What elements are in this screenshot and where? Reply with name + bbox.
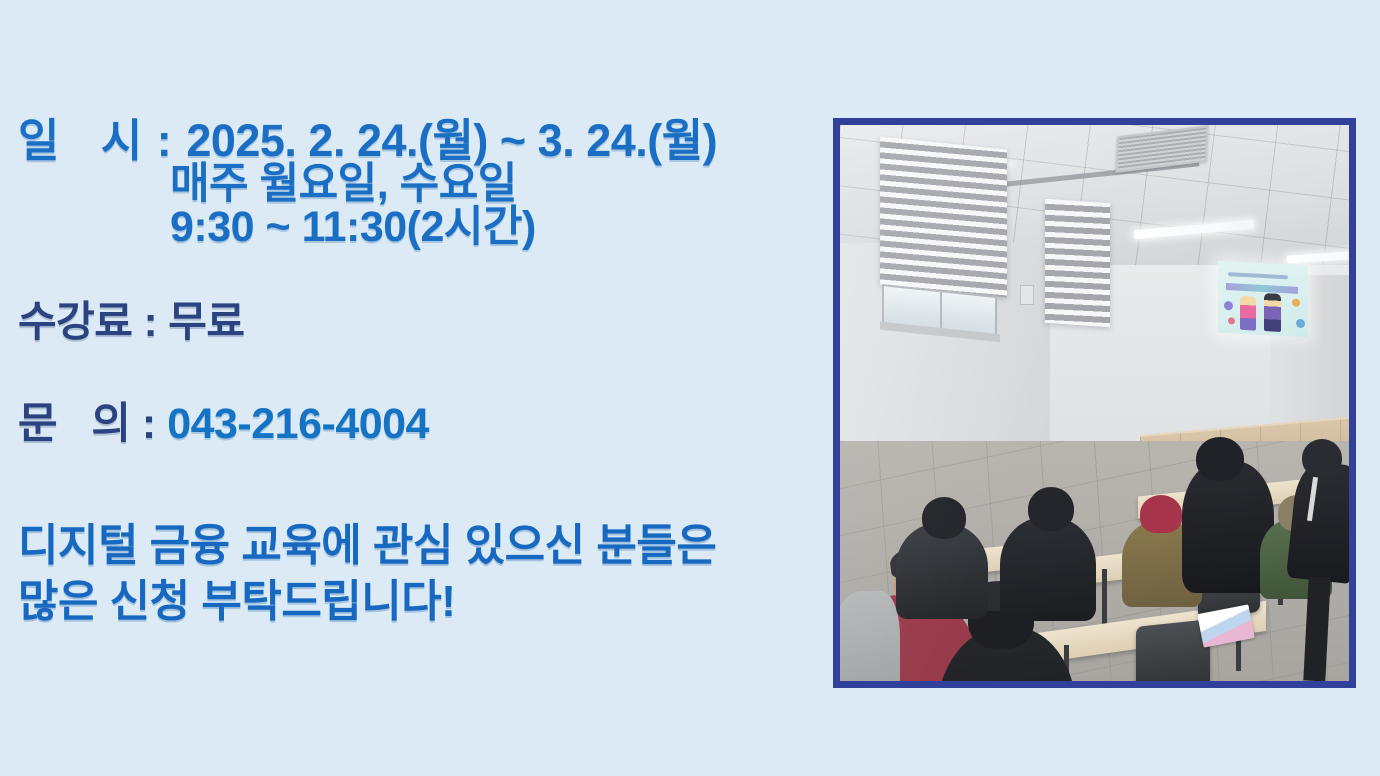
cta-line-2: 많은 신청 부탁드립니다! <box>18 574 818 630</box>
projection-screen <box>1218 261 1308 338</box>
cta-line-1: 디지털 금융 교육에 관심 있으신 분들은 <box>18 518 818 574</box>
schedule-value: 2025. 2. 24.(월) ~ 3. 24.(월) <box>186 115 717 166</box>
projection-dot-1 <box>1224 301 1233 310</box>
classroom-photo-frame <box>833 118 1356 688</box>
fee-block: 수강료 : 무료 <box>18 301 818 343</box>
schedule-line-3: 9:30 ~ 11:30(2시간) <box>18 206 818 249</box>
contact-line: 문 의 : 043-216-4004 <box>18 403 818 446</box>
schedule-label: 일 시 : <box>18 115 186 166</box>
fee-text: 수강료 : 무료 <box>18 301 818 343</box>
projection-title-text <box>1228 272 1288 279</box>
contact-block: 문 의 : 043-216-4004 <box>18 403 818 446</box>
projection-dot-4 <box>1296 319 1305 328</box>
wall-control-box <box>1020 285 1034 305</box>
projection-figure-1 <box>1240 296 1256 331</box>
chair-middle <box>1136 619 1210 681</box>
projection-figure-2 <box>1264 293 1281 332</box>
projection-dot-3 <box>1292 299 1300 307</box>
poster-text-column: 일 시 : 2025. 2. 24.(월) ~ 3. 24.(월) 매주 월요일… <box>18 118 818 631</box>
schedule-block: 일 시 : 2025. 2. 24.(월) ~ 3. 24.(월) 매주 월요일… <box>18 118 818 249</box>
window-blind-2 <box>1045 199 1110 328</box>
classroom-photo <box>840 125 1349 681</box>
projection-subtitle-text <box>1226 283 1298 294</box>
schedule-line-2: 매주 월요일, 수요일 <box>18 163 818 206</box>
contact-phone-number[interactable]: 043-216-4004 <box>167 400 429 448</box>
projection-dot-2 <box>1228 317 1235 324</box>
desk-leg <box>1102 569 1107 627</box>
call-to-action-block: 디지털 금융 교육에 관심 있으신 분들은 많은 신청 부탁드립니다! <box>18 518 818 631</box>
window-blind-1 <box>880 136 1007 297</box>
schedule-line-1: 일 시 : 2025. 2. 24.(월) ~ 3. 24.(월) <box>18 118 818 163</box>
contact-label: 문 의 : <box>18 400 167 448</box>
